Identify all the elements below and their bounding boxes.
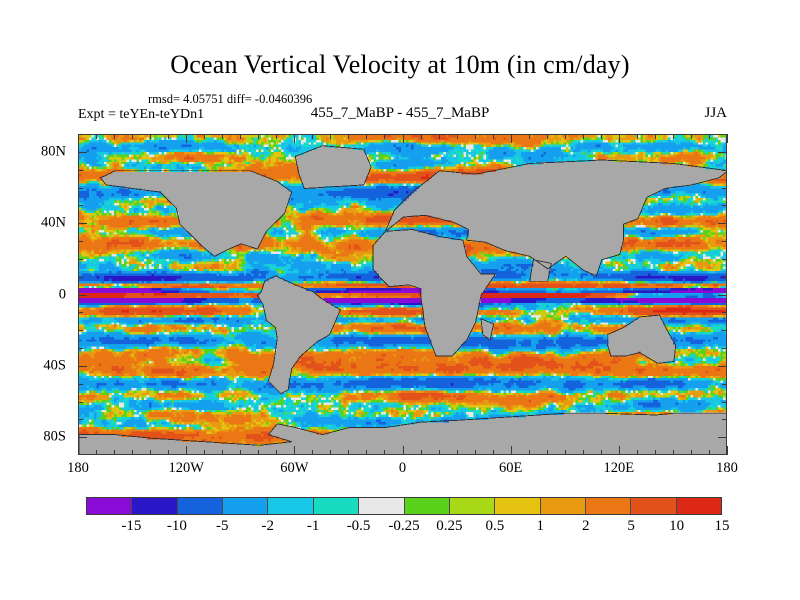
x-tick	[457, 134, 458, 139]
y-tick	[718, 152, 727, 153]
x-tick	[493, 134, 494, 139]
x-tick	[114, 134, 115, 139]
y-tick	[78, 259, 83, 260]
x-tick	[673, 134, 674, 139]
colorbar-cell-13	[677, 498, 721, 514]
x-tick	[619, 446, 620, 455]
y-tick	[718, 295, 727, 296]
y-tick	[78, 330, 83, 331]
y-tick	[718, 437, 727, 438]
x-tick	[114, 450, 115, 455]
x-tick	[204, 450, 205, 455]
colorbar	[86, 497, 722, 515]
y-tick	[78, 223, 87, 224]
x-tick	[565, 450, 566, 455]
colorbar-cell-7	[405, 498, 450, 514]
x-tick	[276, 134, 277, 139]
x-tick	[132, 134, 133, 139]
y-tick	[78, 188, 83, 189]
x-tick	[294, 134, 295, 143]
y-tick	[78, 170, 83, 171]
x-tick	[727, 446, 728, 455]
x-tick	[168, 450, 169, 455]
x-tick	[258, 450, 259, 455]
colorbar-cell-3	[223, 498, 268, 514]
x-tick	[583, 450, 584, 455]
y-tick	[78, 366, 87, 367]
y-axis-label-0: 0	[6, 286, 66, 303]
x-tick	[475, 134, 476, 139]
x-tick	[601, 450, 602, 455]
x-tick	[204, 134, 205, 139]
x-tick	[583, 134, 584, 139]
x-tick	[186, 134, 187, 143]
x-tick	[457, 450, 458, 455]
x-axis-label-120E: 120E	[579, 460, 659, 477]
y-tick	[718, 366, 727, 367]
x-tick	[421, 450, 422, 455]
x-tick	[186, 446, 187, 455]
contour-field	[79, 135, 726, 454]
y-tick	[722, 419, 727, 420]
x-tick	[511, 446, 512, 455]
x-axis-label-60W: 60W	[254, 460, 334, 477]
x-tick	[222, 450, 223, 455]
x-tick	[132, 450, 133, 455]
x-tick	[240, 450, 241, 455]
x-tick	[240, 134, 241, 139]
x-tick	[366, 450, 367, 455]
x-axis-label-0: 0	[363, 460, 443, 477]
x-tick	[475, 450, 476, 455]
x-tick	[691, 134, 692, 139]
x-tick	[727, 134, 728, 143]
y-tick	[722, 384, 727, 385]
colorbar-cell-4	[268, 498, 313, 514]
y-tick	[78, 348, 83, 349]
x-axis-label-120W: 120W	[146, 460, 226, 477]
y-tick	[722, 402, 727, 403]
colorbar-cell-2	[178, 498, 223, 514]
x-tick	[150, 134, 151, 139]
y-tick	[78, 295, 87, 296]
x-tick	[439, 134, 440, 139]
y-tick	[78, 437, 87, 438]
x-tick	[493, 450, 494, 455]
x-tick	[403, 134, 404, 143]
y-tick	[722, 188, 727, 189]
y-tick	[78, 205, 83, 206]
x-tick	[150, 450, 151, 455]
y-tick	[722, 348, 727, 349]
x-tick	[691, 450, 692, 455]
x-tick	[348, 450, 349, 455]
y-tick	[78, 384, 83, 385]
y-axis-label-40S: 40S	[6, 357, 66, 374]
colorbar-cell-5	[314, 498, 359, 514]
x-tick	[330, 134, 331, 139]
map-plot-area	[78, 134, 727, 455]
y-tick	[78, 419, 83, 420]
x-axis-label-180: 180	[687, 460, 767, 477]
x-tick	[96, 450, 97, 455]
x-tick	[637, 450, 638, 455]
y-axis-label-40N: 40N	[6, 215, 66, 232]
y-tick	[722, 312, 727, 313]
y-tick	[78, 312, 83, 313]
y-tick	[718, 223, 727, 224]
x-tick	[637, 134, 638, 139]
y-tick	[722, 241, 727, 242]
y-tick	[78, 277, 83, 278]
y-tick	[722, 170, 727, 171]
colorbar-cell-6	[359, 498, 404, 514]
x-axis-label-180: 180	[38, 460, 118, 477]
x-tick	[96, 134, 97, 139]
figure-canvas: Ocean Vertical Velocity at 10m (in cm/da…	[0, 0, 800, 600]
x-tick	[222, 134, 223, 139]
y-axis-label-80S: 80S	[6, 429, 66, 446]
colorbar-cell-12	[631, 498, 676, 514]
x-tick	[312, 450, 313, 455]
x-tick	[78, 446, 79, 455]
x-tick	[529, 450, 530, 455]
y-tick	[722, 205, 727, 206]
x-tick	[384, 450, 385, 455]
colorbar-cell-1	[132, 498, 177, 514]
x-tick	[673, 450, 674, 455]
x-tick	[78, 134, 79, 143]
y-tick	[78, 241, 83, 242]
colorbar-cell-10	[541, 498, 586, 514]
y-tick	[722, 330, 727, 331]
x-tick	[276, 450, 277, 455]
x-tick	[511, 134, 512, 143]
y-tick	[722, 259, 727, 260]
page-title: Ocean Vertical Velocity at 10m (in cm/da…	[0, 50, 800, 80]
x-tick	[439, 450, 440, 455]
y-tick	[78, 152, 87, 153]
x-tick	[312, 134, 313, 139]
colorbar-tick-13: 15	[687, 518, 757, 535]
x-tick	[565, 134, 566, 139]
x-tick	[655, 450, 656, 455]
x-tick	[384, 134, 385, 139]
colorbar-cell-9	[495, 498, 540, 514]
x-tick	[619, 134, 620, 143]
x-tick	[601, 134, 602, 139]
x-tick	[294, 446, 295, 455]
season-label: JJA	[0, 105, 727, 122]
x-tick	[529, 134, 530, 139]
colorbar-cell-11	[586, 498, 631, 514]
x-tick	[655, 134, 656, 139]
colorbar-cell-0	[87, 498, 132, 514]
x-tick	[403, 446, 404, 455]
x-tick	[709, 450, 710, 455]
x-tick	[348, 134, 349, 139]
x-tick	[168, 134, 169, 139]
x-tick	[547, 134, 548, 139]
x-tick	[366, 134, 367, 139]
x-tick	[330, 450, 331, 455]
x-tick	[547, 450, 548, 455]
x-tick	[421, 134, 422, 139]
x-axis-label-60E: 60E	[471, 460, 551, 477]
x-tick	[258, 134, 259, 139]
y-tick	[78, 402, 83, 403]
y-axis-label-80N: 80N	[6, 143, 66, 160]
colorbar-cell-8	[450, 498, 495, 514]
x-tick	[709, 134, 710, 139]
y-tick	[722, 277, 727, 278]
